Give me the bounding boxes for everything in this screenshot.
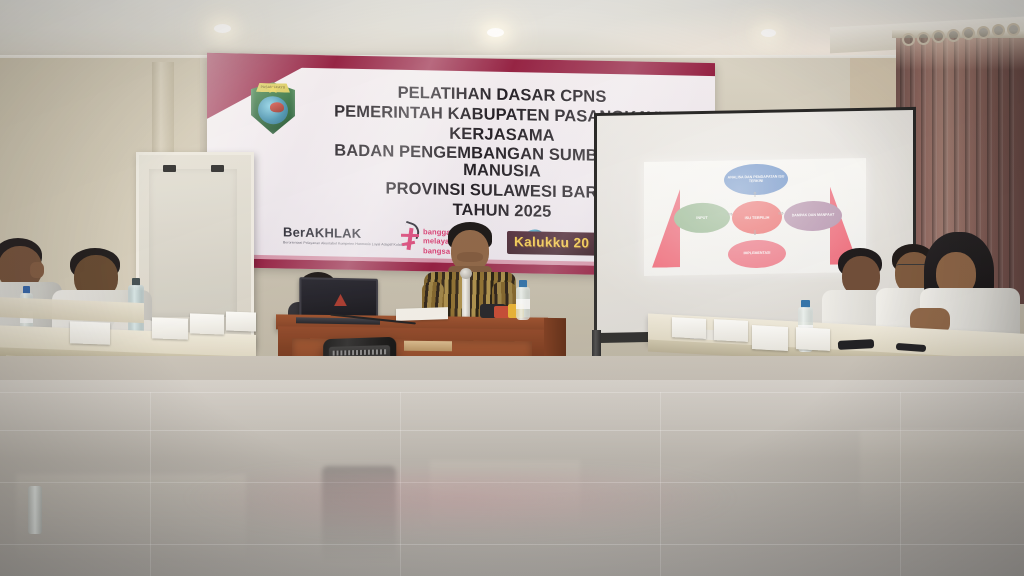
name-plate	[752, 325, 788, 351]
curtain-ring-icon	[917, 32, 930, 45]
paper-clip-icon	[211, 165, 224, 172]
pen	[838, 339, 874, 350]
name-plate	[672, 317, 706, 339]
curtain-ring-icon	[947, 29, 960, 42]
curtain-highlight	[896, 36, 1024, 70]
desk-plaque	[404, 341, 452, 352]
water-bottle-floor	[28, 486, 42, 534]
name-plate	[226, 311, 256, 331]
ceiling-downlight-icon	[487, 28, 504, 37]
curtain-ring-icon	[1007, 23, 1020, 36]
curtain-ring-icon	[962, 27, 975, 40]
laptop-logo-icon	[334, 294, 347, 306]
name-plate	[714, 319, 748, 342]
name-plate	[796, 327, 830, 351]
floor-gloss	[0, 380, 1024, 576]
flipchart-paper	[149, 169, 237, 317]
curtain-ring-icon	[977, 26, 990, 39]
microphone-head-icon	[460, 268, 472, 279]
name-plate	[190, 313, 224, 334]
curtain-ring-icon	[992, 24, 1005, 37]
curtain-ring-icon	[902, 33, 915, 46]
curtain-ring-icon	[932, 30, 945, 43]
papers	[396, 307, 448, 321]
ceiling-downlight-icon	[761, 29, 776, 37]
microphone	[462, 274, 470, 322]
paper-clip-icon	[163, 165, 176, 172]
name-plate	[152, 317, 188, 339]
water-bottle	[516, 280, 530, 320]
ceiling-downlight-icon	[214, 24, 231, 33]
name-plate	[70, 321, 110, 344]
photo-scene: PASANGKAYU PELATIHAN DASAR CPNS PEMERINT…	[0, 0, 1024, 576]
